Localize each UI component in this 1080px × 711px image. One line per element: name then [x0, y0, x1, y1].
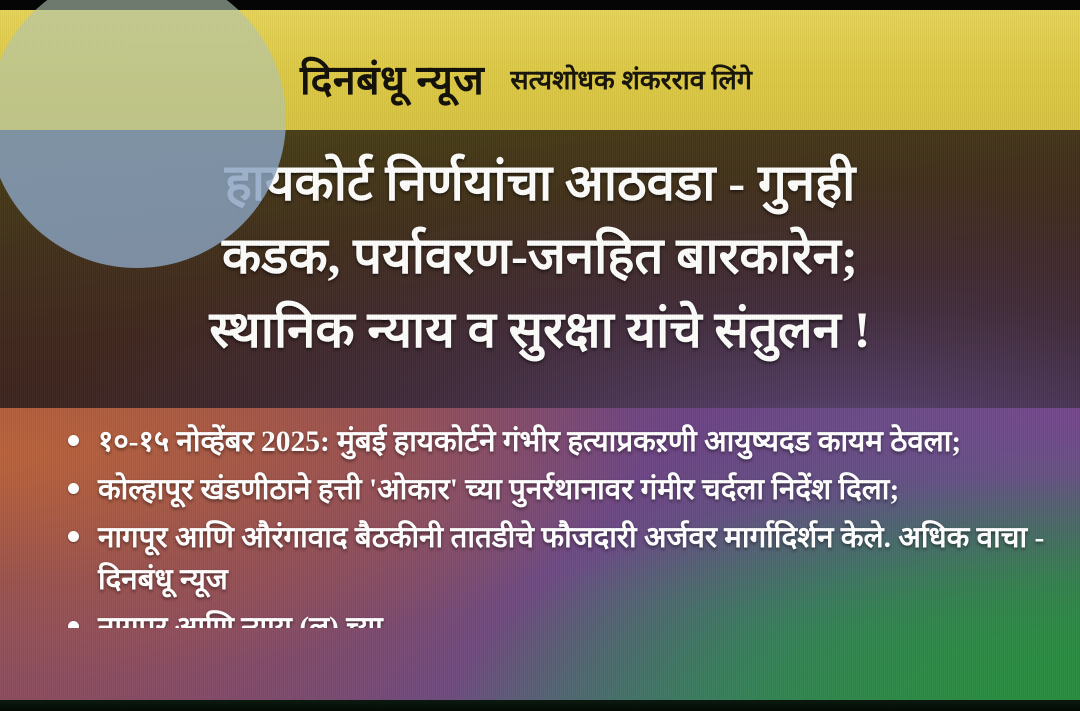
headline-line-2: कडक, पर्यावरण-जनहित बारकारेन; — [34, 221, 1046, 294]
bullet-dot-icon — [68, 621, 79, 628]
news-graphic-card: दिनबंधू न्यूज सत्यशोधक शंकरराव लिंगे हाय… — [0, 0, 1080, 711]
list-item-text: १०-१५ नोव्हेंबर 2025: मुंबई हायकोर्टने ग… — [98, 426, 961, 458]
list-item: १०-१५ नोव्हेंबर 2025: मुंबई हायकोर्टने ग… — [64, 422, 1054, 464]
list-item-text: कोल्हापूर खंडणीठाने हत्ती 'ओकार' च्या पु… — [98, 474, 899, 506]
brand-tagline: सत्यशोधक शंकरराव लिंगे — [510, 67, 752, 94]
headline-line-1: हायकोर्ट निर्णयांचा आठवडा - गुनही — [34, 148, 1046, 221]
bullet-dot-icon — [68, 531, 79, 542]
list-item-text: नागपूर आणि औरंगावाद बैठकीनी तातडीचे फौजद… — [98, 522, 1044, 596]
bottom-dark-strip — [0, 700, 1080, 711]
header-band: दिनबंधू न्यूज सत्यशोधक शंकरराव लिंगे — [0, 10, 1080, 130]
brand-wrap: दिनबंधू न्यूज सत्यशोधक शंकरराव लिंगे — [300, 20, 752, 140]
list-item: नागपूर आणि औरंगावाद बैठकीनी तातडीचे फौजद… — [64, 518, 1054, 602]
bullet-list: १०-१५ नोव्हेंबर 2025: मुंबई हायकोर्टने ग… — [0, 422, 1080, 634]
bullet-dot-icon — [68, 435, 79, 446]
brand-logo: दिनबंधू न्यूज — [300, 60, 484, 101]
top-black-strip — [0, 0, 1080, 10]
list-item: कोल्हापूर खंडणीठाने हत्ती 'ओकार' च्या पु… — [64, 470, 1054, 512]
list-item-text: नागपूर आणि न्याय (ल) च्या — [98, 612, 383, 628]
bullet-dot-icon — [68, 483, 79, 494]
headline-line-3: स्थानिक न्याय व सुरक्षा यांचे संतुलन ! — [34, 295, 1046, 368]
body-band: १०-१५ नोव्हेंबर 2025: मुंबई हायकोर्टने ग… — [0, 408, 1080, 700]
headline-band: हायकोर्ट निर्णयांचा आठवडा - गुनही कडक, प… — [0, 130, 1080, 408]
page-title: हायकोर्ट निर्णयांचा आठवडा - गुनही कडक, प… — [0, 148, 1080, 368]
list-item-truncated: नागपूर आणि न्याय (ल) च्या — [64, 608, 1054, 628]
